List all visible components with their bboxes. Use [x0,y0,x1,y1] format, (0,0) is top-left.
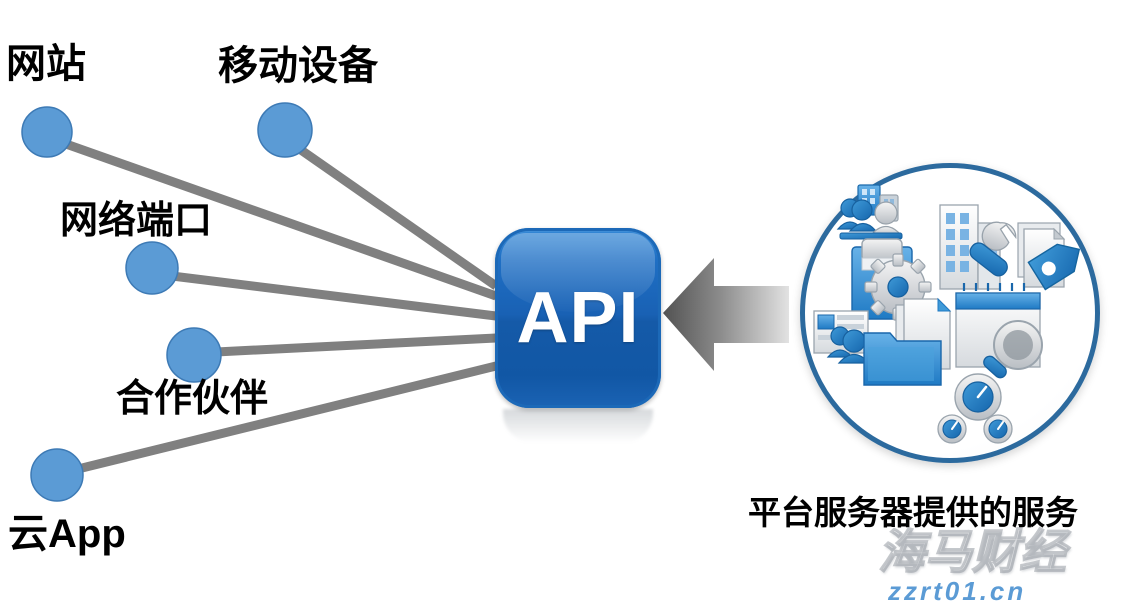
api-box[interactable]: API [495,228,661,408]
node-partner [167,328,221,382]
watermark-brand: 海马财经 [878,528,1066,575]
source-nodes [22,103,312,501]
api-box-reflection [503,409,653,443]
documents-tag-icon [1018,223,1088,289]
node-label-website: 网站 [6,44,86,84]
gauges-icon [938,374,1012,443]
api-box-label: API [516,277,639,359]
node-label-cloudapp: 云App [8,514,126,554]
presentation-users-icon [814,311,869,363]
node-netport [126,242,178,294]
office-building-wrench-icon [940,205,1019,289]
node-mobile [258,103,312,157]
notepad-magnifier-icon [956,283,1042,380]
service-icon-cluster [800,163,1100,463]
diagram-canvas: API [0,0,1126,612]
connector-lines [66,144,496,469]
users-server-icon [838,185,902,239]
connector-partner [216,338,496,352]
node-label-mobile: 移动设备 [218,46,378,86]
watermark-url: zzrt01.cn [888,578,1026,604]
node-label-partner: 合作伙伴 [116,380,268,418]
flow-arrow-icon [663,258,789,371]
node-website [22,107,72,157]
node-cloudapp [31,449,83,501]
node-label-netport: 网络端口 [60,202,212,240]
